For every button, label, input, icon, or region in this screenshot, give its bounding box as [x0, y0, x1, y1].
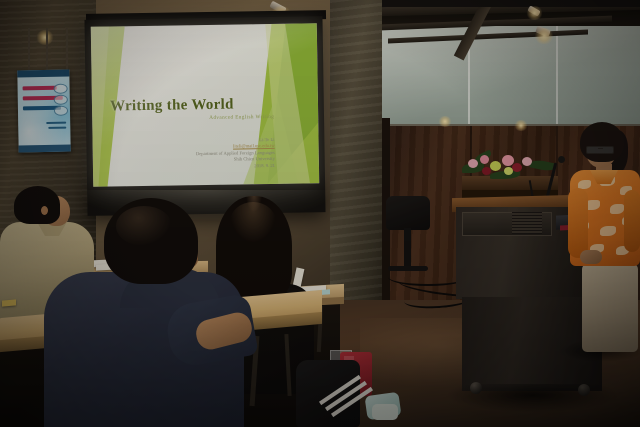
attendee-1-hair — [14, 186, 60, 224]
podium-shadow — [448, 384, 618, 412]
presenter-left-arm — [568, 188, 588, 258]
attendee-2-hair-highlight — [116, 206, 172, 246]
presenter-right-arm — [624, 190, 640, 252]
stool-leg — [404, 228, 411, 268]
microphone-head — [558, 156, 565, 163]
upper-beam — [352, 0, 640, 7]
projected-slide: Writing the World Advanced English Writi… — [91, 23, 319, 187]
sports-bag — [296, 360, 360, 427]
attendee-3-hair-part — [246, 196, 262, 212]
light-glow — [526, 6, 543, 20]
av-stool — [386, 196, 430, 230]
presenter-trousers — [582, 264, 638, 352]
presenter — [566, 122, 640, 352]
classroom-scene: Writing the World Advanced English Writi… — [0, 0, 640, 427]
floral-arrangement — [460, 145, 560, 181]
light-glow — [514, 120, 528, 131]
glasses-bridge — [598, 148, 603, 149]
light-glow — [438, 116, 452, 127]
attendee-1-ear — [41, 206, 48, 215]
presenter-hand — [580, 250, 602, 264]
pillar-texture — [330, 0, 382, 330]
folded-cloth-2 — [372, 404, 398, 420]
presenter-hair — [580, 122, 624, 162]
sticky-note — [2, 299, 16, 306]
wall-poster — [17, 70, 70, 153]
podium-vent — [512, 212, 542, 234]
slide-glare — [91, 23, 319, 187]
light-glow — [534, 28, 554, 44]
poster-hangers — [22, 28, 82, 74]
